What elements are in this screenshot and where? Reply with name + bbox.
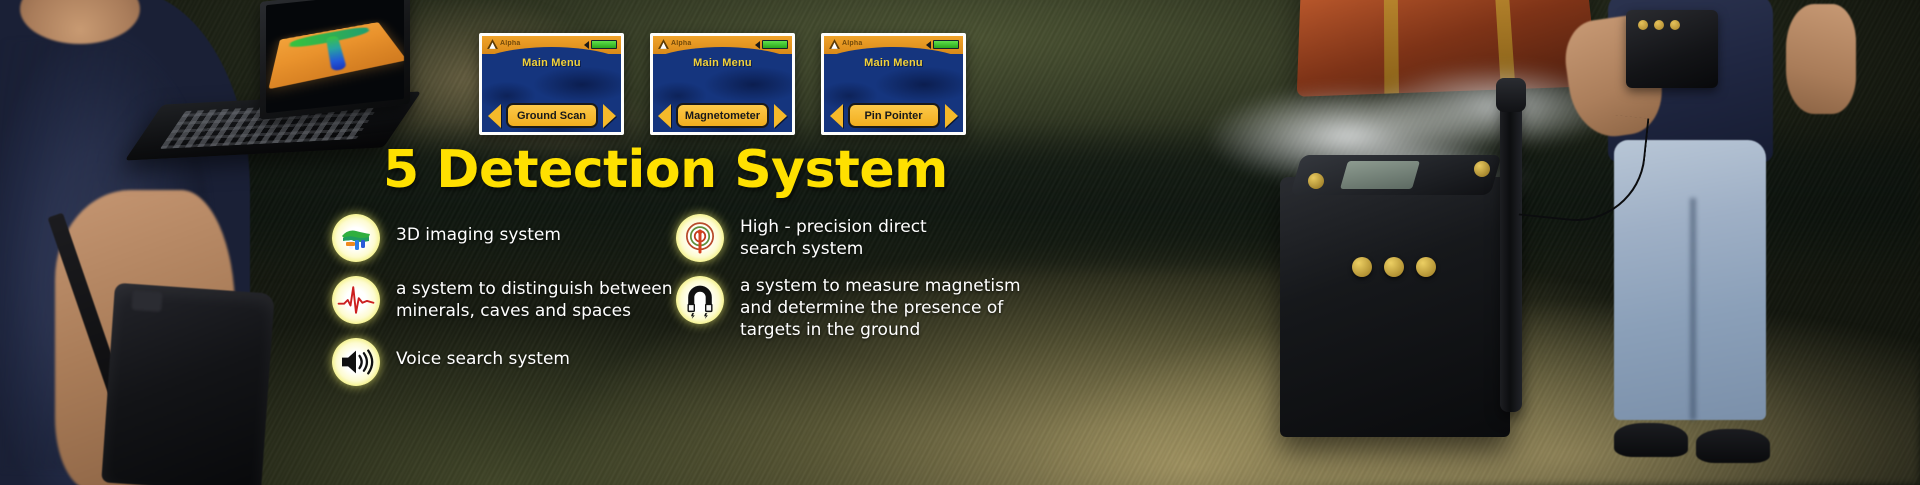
control-box-knob bbox=[1670, 20, 1680, 30]
feature-item-voice-search: Voice search system bbox=[332, 338, 673, 386]
feature-item-mineral-discrimination: a system to distinguish between minerals… bbox=[332, 276, 673, 324]
feature-label: High - precision direct search system bbox=[740, 214, 927, 261]
arrow-left-icon[interactable] bbox=[658, 104, 671, 128]
mode-selector[interactable]: Magnetometer bbox=[653, 103, 792, 128]
detector-lcd-screen bbox=[1340, 161, 1420, 189]
hand-held-control-box bbox=[1626, 10, 1718, 88]
brand-name: Alpha bbox=[500, 40, 520, 47]
panel-status-bar: Alpha bbox=[482, 36, 621, 54]
feature-list-right: High - precision direct search system a … bbox=[676, 214, 1021, 355]
feature-item-3d-imaging: 3D imaging system bbox=[332, 214, 673, 262]
control-box-knob bbox=[1638, 20, 1648, 30]
battery-icon bbox=[933, 40, 959, 49]
panel-title: Main Menu bbox=[482, 57, 621, 69]
panel-body: Main Menu Pin Pointer bbox=[824, 57, 963, 135]
device-menu-panel-pin-pointer[interactable]: Alpha Main Menu Pin Pointer bbox=[821, 33, 966, 135]
brand-logo-icon bbox=[486, 38, 499, 51]
brand-logo-icon bbox=[657, 38, 670, 51]
panel-body: Main Menu Ground Scan bbox=[482, 57, 621, 135]
speaker-volume-icon bbox=[584, 41, 589, 49]
panel-status-bar: Alpha bbox=[824, 36, 963, 54]
control-box-knob bbox=[1654, 20, 1664, 30]
device-menu-panel-ground-scan[interactable]: Alpha Main Menu Ground Scan bbox=[479, 33, 624, 135]
battery-indicator bbox=[584, 40, 617, 49]
feature-label: a system to distinguish between minerals… bbox=[396, 276, 673, 323]
laptop-lid bbox=[260, 0, 410, 120]
speaker-icon bbox=[332, 338, 380, 386]
feature-list-left: 3D imaging system a system to distinguis… bbox=[332, 214, 673, 400]
feature-item-magnetism: a system to measure magnetism and determ… bbox=[676, 276, 1021, 341]
banner-stage: Alpha Main Menu Ground Scan bbox=[0, 0, 1920, 485]
arrow-left-icon[interactable] bbox=[488, 104, 501, 128]
speaker-volume-icon bbox=[755, 41, 760, 49]
mode-button[interactable]: Pin Pointer bbox=[848, 103, 940, 128]
panel-title: Main Menu bbox=[653, 57, 792, 69]
detector-knob-row bbox=[1352, 257, 1436, 277]
feature-label: a system to measure magnetism and determ… bbox=[740, 276, 1021, 341]
magnet-icon bbox=[676, 276, 724, 324]
feature-label: Voice search system bbox=[396, 338, 570, 371]
3d-scan-target-ridge bbox=[326, 36, 347, 72]
battery-indicator bbox=[926, 40, 959, 49]
battery-indicator bbox=[755, 40, 788, 49]
control-box-knob-row bbox=[1638, 20, 1680, 30]
detector-knob bbox=[1416, 257, 1436, 277]
operator-right-arm-secondary bbox=[1786, 4, 1856, 114]
device-menu-panel-magnetometer[interactable]: Alpha Main Menu Magnetometer bbox=[650, 33, 795, 135]
arrow-right-icon[interactable] bbox=[603, 104, 616, 128]
panel-title: Main Menu bbox=[824, 57, 963, 69]
brand-name: Alpha bbox=[671, 40, 691, 47]
arrow-right-icon[interactable] bbox=[945, 104, 958, 128]
battery-icon bbox=[591, 40, 617, 49]
equipment-bag bbox=[101, 283, 275, 485]
radar-signal-icon bbox=[676, 214, 724, 262]
panel-status-bar: Alpha bbox=[653, 36, 792, 54]
detector-corner-screw bbox=[1474, 161, 1490, 177]
mode-button[interactable]: Ground Scan bbox=[506, 103, 598, 128]
panel-body: Main Menu Magnetometer bbox=[653, 57, 792, 135]
mode-selector[interactable]: Ground Scan bbox=[482, 103, 621, 128]
page-title: 5 Detection System bbox=[383, 140, 948, 200]
battery-icon bbox=[762, 40, 788, 49]
detector-corner-screw bbox=[1308, 173, 1324, 189]
operator-with-pinpointer bbox=[1530, 0, 1860, 485]
laptop-screen bbox=[266, 0, 404, 113]
brand-logo-icon bbox=[828, 38, 841, 51]
feature-item-high-precision-search: High - precision direct search system bbox=[676, 214, 1021, 262]
treasure-chest-band bbox=[1491, 0, 1515, 90]
detector-knob bbox=[1384, 257, 1404, 277]
laptop bbox=[148, 0, 408, 169]
waveform-icon bbox=[332, 276, 380, 324]
device-menu-panel-group: Alpha Main Menu Ground Scan bbox=[479, 33, 966, 135]
speaker-volume-icon bbox=[926, 41, 931, 49]
arrow-left-icon[interactable] bbox=[830, 104, 843, 128]
pinpointer-probe bbox=[1500, 92, 1522, 412]
treasure-chest-band bbox=[1384, 0, 1399, 94]
operator-right-shoe bbox=[1614, 423, 1688, 457]
mode-button[interactable]: Magnetometer bbox=[676, 103, 769, 128]
3d-scan-surface bbox=[268, 22, 404, 89]
3d-imaging-icon bbox=[332, 214, 380, 262]
feature-label: 3D imaging system bbox=[396, 214, 561, 247]
arrow-right-icon[interactable] bbox=[774, 104, 787, 128]
detector-knob bbox=[1352, 257, 1372, 277]
mode-selector[interactable]: Pin Pointer bbox=[824, 103, 963, 128]
detector-main-unit bbox=[1280, 177, 1510, 437]
brand-name: Alpha bbox=[842, 40, 862, 47]
operator-right-shoe bbox=[1696, 429, 1770, 463]
